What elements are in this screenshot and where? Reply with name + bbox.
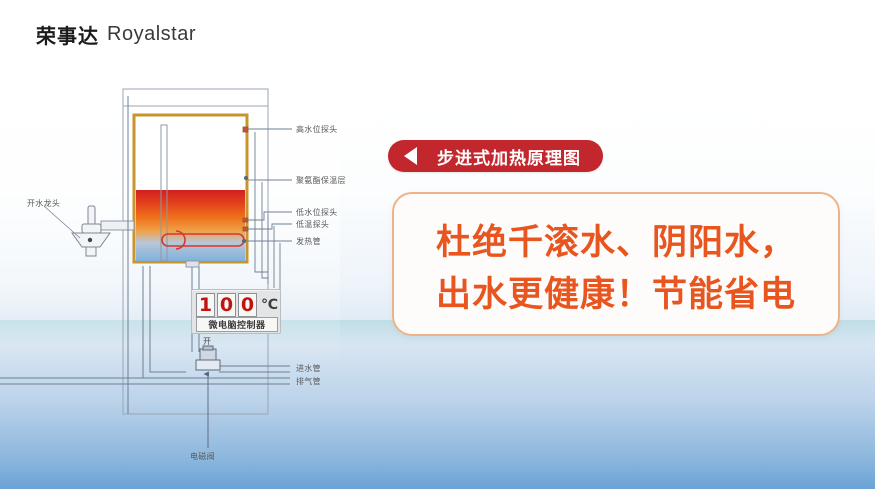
controller-digit-2: 0	[217, 293, 236, 317]
label-faucet: 开水龙头	[27, 198, 60, 209]
label-low-water-probe: 低水位探头	[296, 207, 338, 218]
headline-card: 杜绝千滚水、阴阳水， 出水更健康！节能省电	[392, 192, 840, 336]
heating-principle-diagram: 开水龙头 高水位探头 聚氨酯保温层 低水位探头 低温探头 发热管 开 进水管 排…	[0, 0, 380, 489]
label-solenoid-valve: 电磁阀	[190, 451, 215, 462]
label-inlet-pipe: 进水管	[296, 363, 321, 374]
section-badge-label: 步进式加热原理图	[437, 144, 581, 169]
label-heating-tube: 发热管	[296, 236, 321, 247]
headline-line-1: 杜绝千滚水、阴阳水，	[394, 214, 838, 265]
label-low-temp-probe: 低温探头	[296, 219, 329, 230]
triangle-left-icon	[404, 147, 417, 165]
label-high-water-probe: 高水位探头	[296, 124, 338, 135]
label-insulation-layer: 聚氨酯保温层	[296, 175, 346, 186]
controller-unit: ℃	[261, 297, 278, 313]
label-valve-open: 开	[203, 336, 211, 347]
controller-digit-1: 1	[196, 293, 215, 317]
label-exhaust-pipe: 排气管	[296, 376, 321, 387]
controller-display: 1 0 0 ℃	[196, 293, 278, 317]
slide-canvas: 荣事达 Royalstar 步进式加热原理图 杜绝千滚水、阴阳水， 出水更健康！…	[0, 0, 875, 489]
controller-sub-label: 微电脑控制器	[196, 317, 278, 332]
controller-digit-3: 0	[238, 293, 257, 317]
microcomputer-controller: 1 0 0 ℃ 微电脑控制器	[191, 289, 281, 334]
headline-line-2: 出水更健康！节能省电	[394, 266, 838, 317]
section-badge: 步进式加热原理图	[388, 140, 603, 172]
